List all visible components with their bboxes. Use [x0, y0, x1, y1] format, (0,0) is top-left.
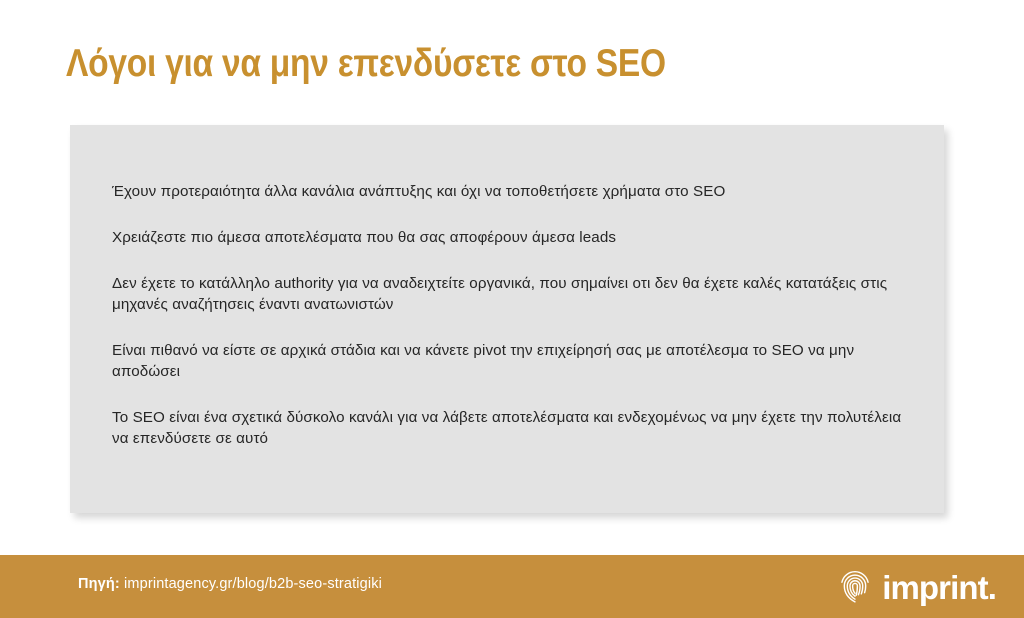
slide-root: Λόγοι για να μην επενδύσετε στο SEO Έχου… — [0, 0, 1024, 618]
source-label: Πηγή: — [78, 576, 120, 592]
brand-wordmark: imprint. — [882, 571, 996, 604]
list-item: Έχουν προτεραιότητα άλλα κανάλια ανάπτυξ… — [112, 181, 912, 202]
footer-band: Πηγή: imprintagency.gr/blog/b2b-seo-stra… — [0, 555, 1024, 618]
brand-logo: imprint. — [836, 566, 996, 608]
list-item: Δεν έχετε το κατάλληλο authority για να … — [112, 273, 912, 315]
list-item: Χρειάζεστε πιο άμεσα αποτελέσματα που θα… — [112, 227, 912, 248]
source-attribution: Πηγή: imprintagency.gr/blog/b2b-seo-stra… — [78, 576, 382, 592]
content-panel: Έχουν προτεραιότητα άλλα κανάλια ανάπτυξ… — [70, 125, 944, 513]
bullet-list: Έχουν προτεραιότητα άλλα κανάλια ανάπτυξ… — [112, 181, 912, 449]
page-title: Λόγοι για να μην επενδύσετε στο SEO — [66, 44, 666, 83]
source-url[interactable]: imprintagency.gr/blog/b2b-seo-stratigiki — [124, 576, 382, 592]
fingerprint-icon — [836, 568, 874, 606]
list-item: Το SEO είναι ένα σχετικά δύσκολο κανάλι … — [112, 407, 912, 449]
list-item: Είναι πιθανό να είστε σε αρχικά στάδια κ… — [112, 340, 912, 382]
